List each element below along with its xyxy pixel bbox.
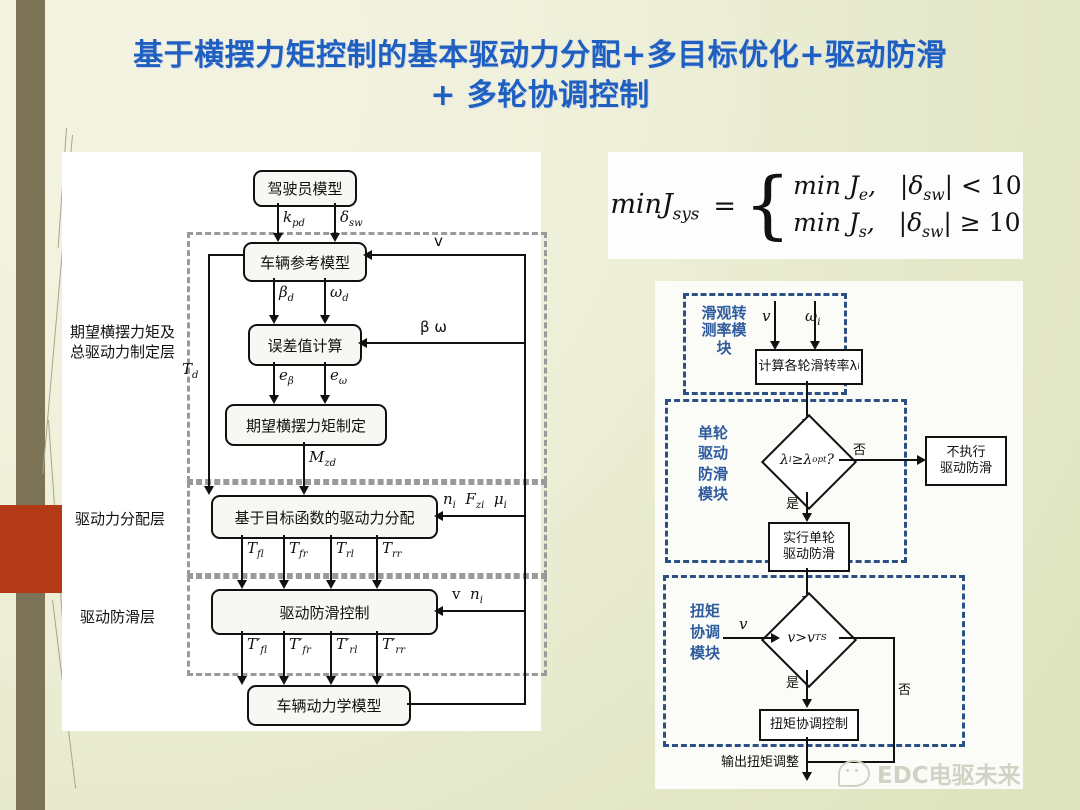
- flow-line-td-v: [208, 254, 210, 486]
- box-vehicle-reference-model[interactable]: 车辆参考模型: [243, 242, 367, 282]
- feedback-line-nifzimui: [443, 515, 526, 517]
- signal-tfr-prime: T′fr: [289, 635, 311, 656]
- box-apply-asr-line1: 实行单轮: [783, 531, 835, 547]
- signal-ni-fzi-mui: ni Fzi μi: [443, 490, 507, 511]
- page-title-line2: + 多轮协调控制: [0, 76, 1080, 116]
- signal-beta-omega: β ω: [420, 318, 447, 336]
- objective-formula: minJsys = { min Je, |δsw| < 10 min Js, |…: [626, 164, 1006, 248]
- flow-line-trl-prime: [330, 631, 332, 676]
- flow-line-tfl: [241, 535, 243, 580]
- module-label-line: 测率模: [695, 322, 753, 339]
- flow-line-tfr: [283, 535, 285, 580]
- layer-label-line2: 总驱动力制定层: [70, 342, 175, 362]
- signal-omega-d: ωd: [330, 283, 349, 304]
- module-label-line: 防滑: [691, 464, 735, 484]
- flow-arrow-trr-prime: [372, 676, 382, 685]
- decorative-edge-bar: [16, 0, 45, 810]
- signal-tfr: Tfr: [289, 539, 308, 560]
- signal-trl: Trl: [336, 539, 354, 560]
- flow-arrow-tfr: [279, 580, 289, 589]
- branch-line-yes-speed: [806, 670, 808, 701]
- flow-arrow-ebeta: [269, 395, 279, 404]
- flow-line-betad: [273, 278, 275, 315]
- input-signal-omega-i: ωi: [805, 307, 820, 328]
- input-signal-v-torque: v: [739, 615, 747, 633]
- flow-arrow-trr: [372, 580, 382, 589]
- box-no-asr-line2: 驱动防滑: [940, 461, 992, 477]
- feedback-line-dynamics: [407, 703, 526, 705]
- slide-root: 基于横摆力矩控制的基本驱动力分配+多目标优化+驱动防滑 + 多轮协调控制 期望横…: [0, 0, 1080, 810]
- flow-arrow-tfl-prime: [237, 676, 247, 685]
- branch-label-no-speed: 否: [898, 679, 911, 698]
- flow-arrow-betad: [269, 315, 279, 324]
- box-objective-force-distribution[interactable]: 基于目标函数的驱动力分配: [211, 495, 438, 539]
- branch-label-yes-speed: 是: [786, 672, 799, 691]
- input-line-v-torque: [723, 637, 773, 639]
- signal-tfl: Tfl: [247, 539, 264, 560]
- module-label-line: 模块: [691, 484, 735, 504]
- flow-line-eomega: [324, 362, 326, 395]
- feedback-arrow-nifzimui: [434, 511, 443, 521]
- module-label-line: 滑观转: [695, 305, 753, 322]
- feedback-line-vni: [443, 610, 526, 612]
- right-flowchart-panel: 滑观转 测率模 块 v ωi 计算各轮滑转率λi 单轮 驱动 防滑 模块 λi …: [655, 281, 1023, 789]
- formula-row-1: min Je, |δsw| < 10: [793, 171, 1022, 204]
- box-desired-yaw-moment[interactable]: 期望横摆力矩制定: [225, 404, 387, 446]
- signal-e-beta: eβ: [279, 366, 294, 387]
- signal-dsw: δsw: [340, 208, 363, 229]
- flow-line-dsw: [334, 203, 336, 233]
- flow-line-kpd: [277, 203, 279, 233]
- branch-line-no-slip: [839, 459, 917, 461]
- flow-line-ebeta: [273, 362, 275, 395]
- module-label-line: 块: [695, 340, 753, 357]
- feedback-line-v-v: [524, 254, 526, 704]
- flow-line-trl: [330, 535, 332, 580]
- left-flowchart-panel: 期望横摆力矩及 总驱动力制定层 驱动力分配层 驱动防滑层 驾驶员模型 车辆参考模…: [62, 152, 541, 731]
- page-title: 基于横摆力矩控制的基本驱动力分配+多目标优化+驱动防滑 + 多轮协调控制: [0, 36, 1080, 116]
- flow-arrow-tfl: [237, 580, 247, 589]
- formula-lhs: minJsys: [610, 189, 699, 223]
- branch-line-no-speed-v: [893, 637, 895, 763]
- feedback-line-betaomega: [367, 342, 526, 344]
- input-arrow-v-torque: [771, 633, 780, 643]
- box-driver-model[interactable]: 驾驶员模型: [253, 170, 357, 207]
- module-label-single-wheel-asr: 单轮 驱动 防滑 模块: [691, 423, 735, 504]
- branch-label-yes-slip: 是: [786, 493, 799, 512]
- signal-e-omega: eω: [330, 366, 347, 387]
- formula-row-2: min Js, |δsw| ≥ 10: [793, 208, 1022, 241]
- module-label-line: 驱动: [691, 443, 735, 463]
- flow-line-td-h: [208, 254, 245, 256]
- flow-line-trr: [376, 535, 378, 580]
- decorative-accent-square: [0, 505, 64, 593]
- signal-tfl-prime: T′fl: [247, 635, 267, 656]
- box-compute-slip-rate-sub: i: [857, 362, 859, 372]
- flow-line-output: [806, 737, 808, 775]
- box-error-calculation[interactable]: 误差值计算: [248, 324, 362, 366]
- signal-v-ni: v ni: [452, 585, 483, 606]
- page-title-line1: 基于横摆力矩控制的基本驱动力分配+多目标优化+驱动防滑: [0, 36, 1080, 76]
- layer-label-traction-control: 驱动防滑层: [80, 607, 155, 627]
- feedback-arrow-vni: [434, 606, 443, 616]
- flow-arrow-dsw: [330, 233, 340, 242]
- flow-arrow-kpd: [273, 233, 283, 242]
- signal-mzd: Mzd: [309, 448, 336, 469]
- feedback-line-v-h: [372, 254, 526, 256]
- formula-brace: {: [744, 179, 791, 232]
- flow-arrow-omegad: [320, 315, 330, 324]
- output-label: 输出扭矩调整: [721, 751, 799, 770]
- module-label-line: 单轮: [691, 423, 735, 443]
- box-no-traction-control[interactable]: 不执行 驱动防滑: [925, 436, 1007, 486]
- flow-line-mzd: [303, 442, 305, 486]
- box-no-asr-line1: 不执行: [946, 445, 985, 461]
- flow-line-tfr-prime: [283, 631, 285, 676]
- flow-arrow-trl-prime: [326, 676, 336, 685]
- layer-label-line1: 期望横摆力矩及: [70, 322, 175, 342]
- module-label-line: 协调: [683, 622, 727, 643]
- module-label-line: 扭矩: [683, 601, 727, 622]
- box-apply-single-wheel-asr[interactable]: 实行单轮 驱动防滑: [768, 522, 850, 572]
- input-signal-v: v: [762, 307, 770, 325]
- signal-trr: Trr: [382, 539, 402, 560]
- branch-label-no-slip: 否: [853, 439, 866, 458]
- branch-arrow-yes-speed: [802, 699, 812, 708]
- flow-arrow-mzd: [299, 486, 309, 495]
- box-apply-asr-line2: 驱动防滑: [783, 547, 835, 563]
- layer-label-force-distribution: 驱动力分配层: [75, 509, 165, 529]
- flow-line-trr-prime: [376, 631, 378, 676]
- signal-trl-prime: T′rl: [336, 635, 357, 656]
- feedback-arrow-betaomega: [358, 338, 367, 348]
- flow-arrow-trl: [326, 580, 336, 589]
- box-traction-control[interactable]: 驱动防滑控制: [211, 589, 438, 635]
- signal-v-feedback: v: [434, 232, 443, 250]
- branch-line-no-speed-h: [839, 637, 895, 639]
- feedback-arrow-v: [363, 250, 372, 260]
- flow-line-omegad: [324, 278, 326, 315]
- module-label-slip-observer: 滑观转 测率模 块: [695, 305, 753, 357]
- layer-label-yaw-moment: 期望横摆力矩及 总驱动力制定层: [70, 322, 175, 363]
- box-compute-slip-rate[interactable]: 计算各轮滑转率λi: [755, 349, 863, 385]
- box-torque-coordination-control[interactable]: 扭矩协调控制: [759, 709, 859, 741]
- input-line-v-slip: [774, 301, 776, 341]
- formula-equals: =: [713, 191, 736, 222]
- box-vehicle-dynamics-model[interactable]: 车辆动力学模型: [247, 685, 411, 726]
- branch-line-no-speed-rejoin: [806, 761, 895, 763]
- flow-line-tfl-prime: [241, 631, 243, 676]
- box-compute-slip-rate-label: 计算各轮滑转率λ: [759, 359, 858, 375]
- branch-arrow-yes-slip: [802, 513, 812, 522]
- signal-trr-prime: T′rr: [382, 635, 405, 656]
- formula-rows: min Je, |δsw| < 10 min Js, |δsw| ≥ 10: [793, 171, 1022, 241]
- flow-arrow-output: [802, 772, 812, 781]
- flow-arrow-eomega: [320, 395, 330, 404]
- objective-formula-panel: minJsys = { min Je, |δsw| < 10 min Js, |…: [608, 152, 1023, 259]
- flow-arrow-td: [204, 486, 214, 495]
- signal-kpd: kpd: [283, 208, 305, 229]
- module-label-line: 模块: [683, 643, 727, 664]
- flow-arrow-tfr-prime: [279, 676, 289, 685]
- signal-beta-d: βd: [279, 283, 294, 304]
- signal-td: Td: [182, 360, 198, 381]
- module-label-torque-coordination: 扭矩 协调 模块: [683, 601, 727, 664]
